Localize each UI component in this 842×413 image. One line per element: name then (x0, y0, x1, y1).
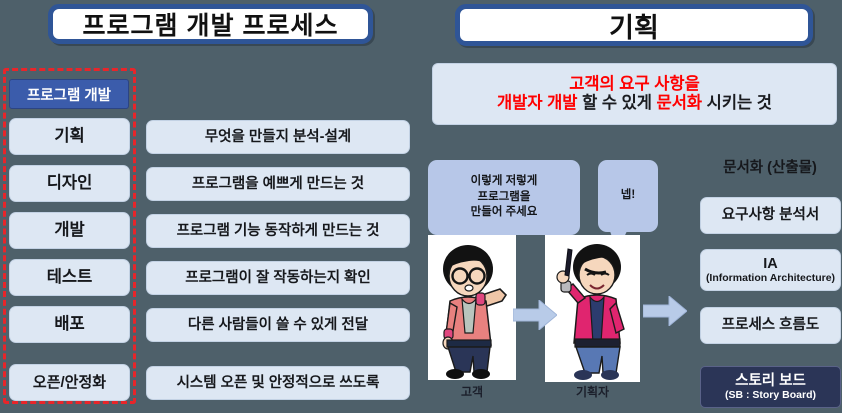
callout-line-1: 고객의 요구 사항을 (569, 75, 700, 94)
doc-item-3[interactable]: 스토리 보드 (SB : Story Board) (700, 366, 841, 408)
diagram-canvas: 프로그램 개발 프로세스 프로그램 개발 기획 디자인 개발 테스트 배포 오픈… (0, 0, 842, 413)
stage-desc-2: 프로그램 기능 동작하게 만드는 것 (146, 214, 410, 248)
documentation-column-header: 문서화 (산출물) (700, 156, 840, 177)
doc-item-1-sublabel: (Information Architecture) (706, 272, 835, 284)
stage-item-4[interactable]: 배포 (9, 306, 130, 343)
person-planner-icon (545, 235, 640, 382)
doc-item-3-sublabel: (SB : Story Board) (725, 389, 816, 401)
doc-item-1[interactable]: IA (Information Architecture) (700, 249, 841, 291)
doc-item-0[interactable]: 요구사항 분석서 (700, 197, 841, 234)
doc-item-0-label: 요구사항 분석서 (722, 207, 819, 224)
right-panel-title: 기획 (455, 4, 813, 46)
stage-list-header: 프로그램 개발 (9, 79, 129, 109)
doc-item-3-label: 스토리 보드 (735, 373, 806, 390)
person-planner-label: 기획자 (545, 383, 640, 400)
doc-item-1-label: IA (763, 256, 778, 273)
stage-desc-0: 무엇을 만들지 분석-설계 (146, 120, 410, 154)
stage-desc-5: 시스템 오픈 및 안정적으로 쓰도록 (146, 366, 410, 400)
speech-bubble-customer-text: 이렇게 저렇게 프로그램을 만들어 주세요 (471, 174, 538, 221)
doc-item-2[interactable]: 프로세스 흐름도 (700, 307, 841, 344)
speech-bubble-customer: 이렇게 저렇게 프로그램을 만들어 주세요 (428, 160, 580, 235)
arrow-right-icon (513, 300, 557, 330)
callout-line1-red: 고객의 요구 사항을 (569, 75, 700, 93)
stage-item-3[interactable]: 테스트 (9, 259, 130, 296)
stage-desc-4: 다른 사람들이 쓸 수 있게 전달 (146, 308, 410, 342)
speech-bubble-planner: 넵! (598, 160, 658, 232)
speech-bubble-planner-text: 넵! (621, 188, 635, 204)
stage-item-0[interactable]: 기획 (9, 118, 130, 155)
left-panel-title: 프로그램 개발 프로세스 (48, 4, 373, 44)
callout-line2-red-b: 문서화 (657, 94, 703, 112)
callout-line2-red-a: 개발자 개발 (497, 94, 577, 112)
callout-line-2: 개발자 개발 할 수 있게 문서화 시키는 것 (497, 94, 772, 113)
stage-desc-3: 프로그램이 잘 작동하는지 확인 (146, 261, 410, 295)
callout-line2-dark-a: 할 수 있게 (577, 94, 656, 112)
person-customer-label: 고객 (428, 383, 516, 400)
stage-item-2[interactable]: 개발 (9, 212, 130, 249)
stage-item-5[interactable]: 오픈/안정화 (9, 364, 130, 401)
stage-desc-1: 프로그램을 예쁘게 만드는 것 (146, 167, 410, 201)
arrow-right-icon (643, 296, 687, 326)
doc-item-2-label: 프로세스 흐름도 (722, 317, 819, 334)
person-customer-icon (428, 235, 516, 380)
stage-item-1[interactable]: 디자인 (9, 165, 130, 202)
callout-line2-dark-b: 시키는 것 (702, 94, 772, 112)
planning-definition-callout: 고객의 요구 사항을 개발자 개발 할 수 있게 문서화 시키는 것 (432, 63, 837, 125)
